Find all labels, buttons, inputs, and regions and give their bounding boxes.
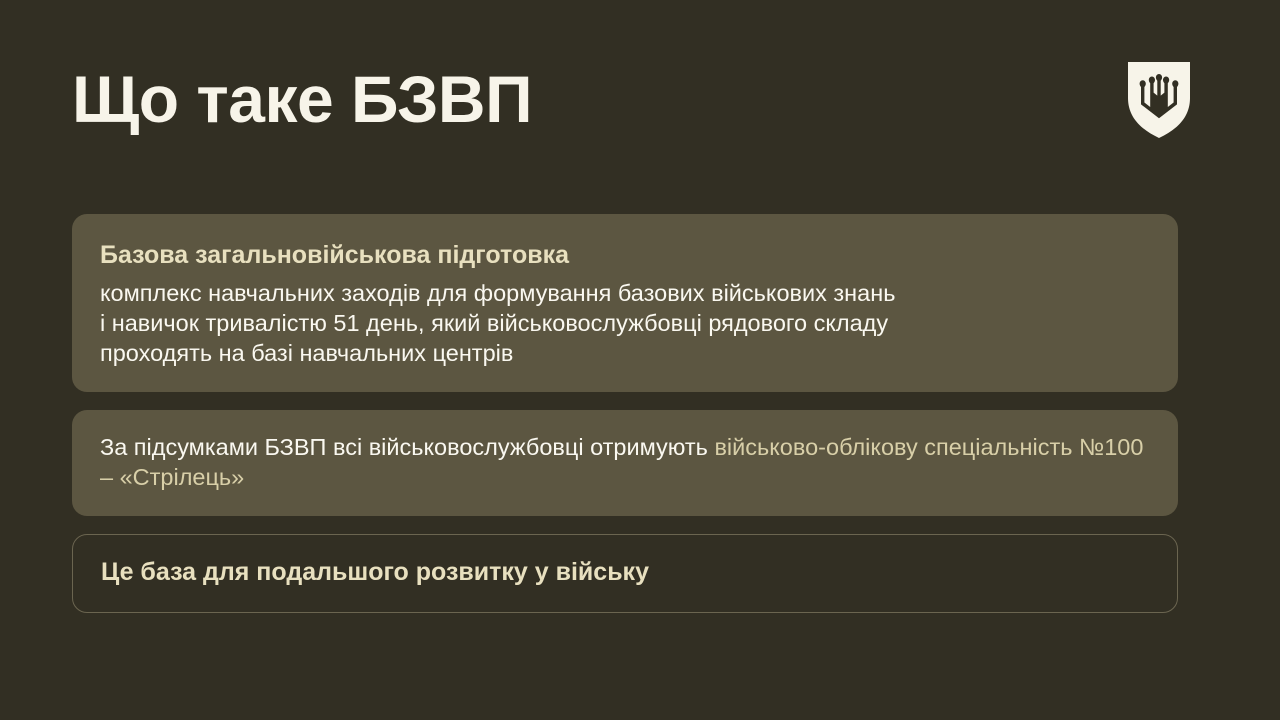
- card-definition: Базова загальновійськова підготовка комп…: [72, 214, 1178, 392]
- card-speciality-prefix: За підсумками БЗВП всі військовослужбовц…: [100, 434, 714, 460]
- card-speciality-body: За підсумками БЗВП всі військовослужбовц…: [100, 432, 1150, 492]
- slide-header: Що таке БЗВП: [72, 48, 1208, 152]
- card-base-statement-text: Це база для подальшого розвитку у військ…: [101, 557, 1149, 588]
- card-definition-heading: Базова загальновійськова підготовка: [100, 240, 1150, 270]
- slide-root: Що таке БЗВП Базова загальновійськова пі…: [0, 0, 1280, 720]
- card-base-statement: Це база для подальшого розвитку у військ…: [72, 534, 1178, 612]
- cards-container: Базова загальновійськова підготовка комп…: [72, 214, 1178, 613]
- card-definition-body: комплекс навчальних заходів для формуван…: [100, 278, 1150, 368]
- card-definition-body-line-2: і навичок тривалістю 51 день, який війсь…: [100, 308, 1150, 338]
- card-definition-body-line-3: проходять на базі навчальних центрів: [100, 338, 1150, 368]
- ukrainian-armed-forces-shield-trident-emblem: [1128, 62, 1190, 138]
- card-speciality: За підсумками БЗВП всі військовослужбовц…: [72, 410, 1178, 516]
- card-definition-body-line-1: комплекс навчальних заходів для формуван…: [100, 278, 1150, 308]
- page-title: Що таке БЗВП: [72, 66, 532, 133]
